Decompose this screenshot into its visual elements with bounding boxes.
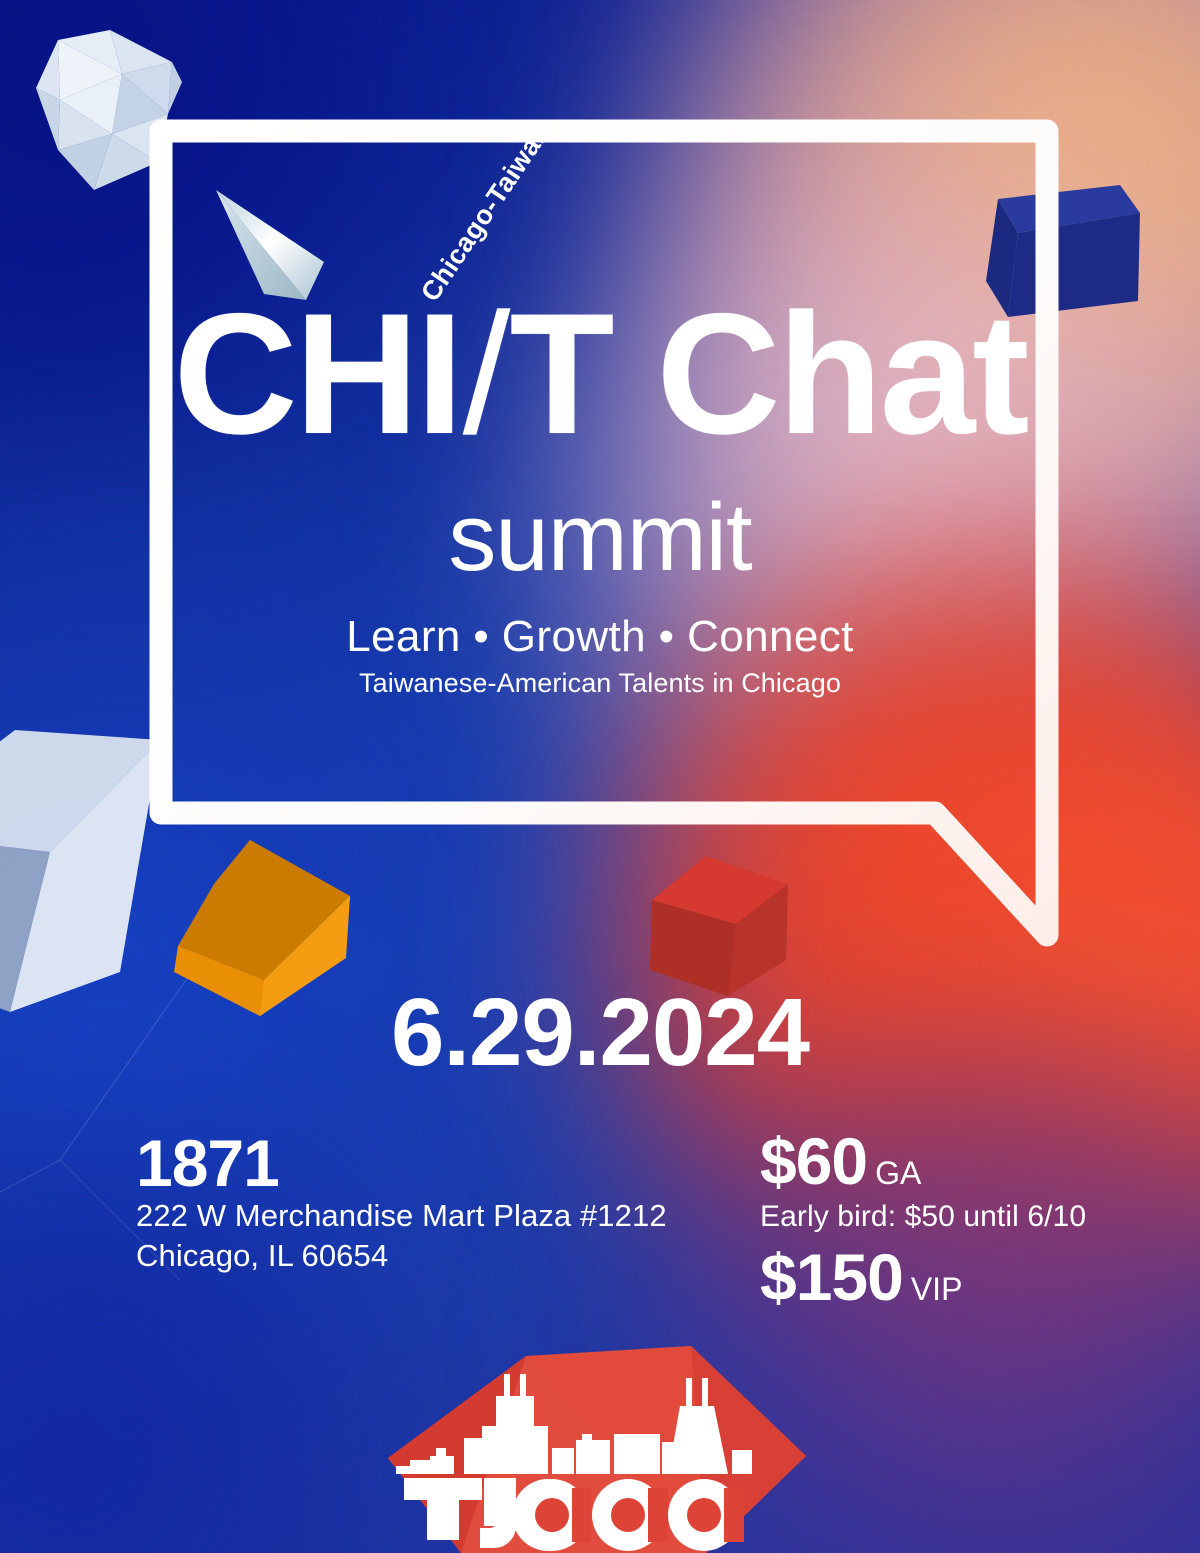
venue-block: 1871 222 W Merchandise Mart Plaza #1212 … bbox=[136, 1130, 667, 1275]
vip-price: $150 bbox=[760, 1240, 903, 1314]
tagline: Learn • Growth • Connect bbox=[0, 612, 1200, 662]
venue-name: 1871 bbox=[136, 1130, 667, 1196]
ga-price: $60 bbox=[760, 1124, 867, 1198]
sub-tagline: Taiwanese-American Talents in Chicago bbox=[0, 668, 1200, 699]
pricing-block: $60GA Early bird: $50 until 6/10 $150VIP bbox=[760, 1128, 1160, 1310]
vip-label: VIP bbox=[911, 1271, 963, 1307]
title-block: CHI/T Chat bbox=[0, 288, 1200, 460]
early-bird-note: Early bird: $50 until 6/10 bbox=[760, 1200, 1160, 1234]
price-row-ga: $60GA bbox=[760, 1128, 1160, 1194]
venue-address-line-2: Chicago, IL 60654 bbox=[136, 1236, 667, 1276]
tjccc-logo bbox=[376, 1338, 836, 1553]
summit-subtitle: summit bbox=[0, 490, 1200, 586]
poster-title: CHI/T Chat bbox=[173, 288, 1026, 460]
title-part-two: T Chat bbox=[509, 278, 1026, 470]
ga-label: GA bbox=[875, 1155, 921, 1191]
title-slash: / bbox=[461, 288, 510, 460]
price-row-vip: $150VIP bbox=[760, 1244, 1160, 1310]
title-part-one: CHI bbox=[173, 278, 460, 470]
event-date: 6.29.2024 bbox=[0, 985, 1200, 1081]
icosahedron-shape bbox=[22, 22, 222, 222]
venue-address-line-1: 222 W Merchandise Mart Plaza #1212 bbox=[136, 1196, 667, 1236]
event-poster: CHI/T Chat Chicago-Taiwan summit Learn •… bbox=[0, 0, 1200, 1553]
